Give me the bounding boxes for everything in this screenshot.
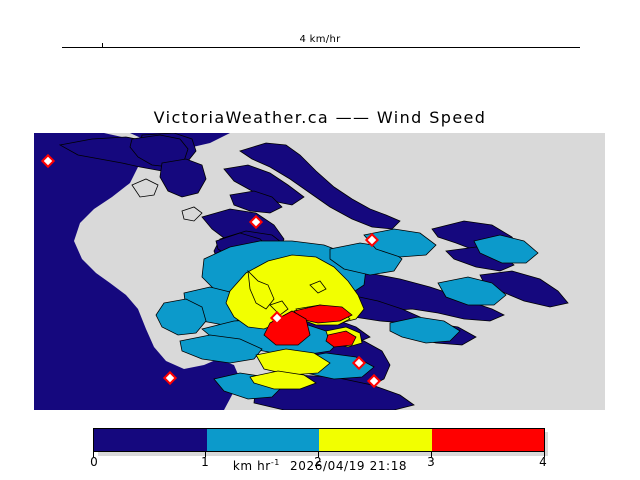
colorbar-timestamp: 2026/04/19 21:18 bbox=[290, 459, 407, 473]
colorbar-segment-2-3 bbox=[319, 429, 432, 451]
wind-barb-scale-tick bbox=[102, 43, 103, 48]
colorbar-unit-exponent: -1 bbox=[271, 458, 280, 467]
colorbar-unit-label: km hr bbox=[233, 459, 271, 473]
colorbar-segment-3-4 bbox=[432, 429, 545, 451]
colorbar-caption: km hr-12026/04/19 21:18 bbox=[0, 458, 640, 473]
wind-barb-scale-line bbox=[62, 47, 580, 48]
colorbar-segment-0-1 bbox=[94, 429, 207, 451]
colorbar[interactable] bbox=[93, 428, 545, 452]
wind-speed-map[interactable] bbox=[34, 133, 605, 410]
page-title: VictoriaWeather.ca —— Wind Speed bbox=[0, 108, 640, 127]
wind-barb-scale-label: 4 km/hr bbox=[0, 34, 640, 45]
colorbar-segment-1-2 bbox=[207, 429, 320, 451]
map-canvas bbox=[34, 133, 605, 410]
